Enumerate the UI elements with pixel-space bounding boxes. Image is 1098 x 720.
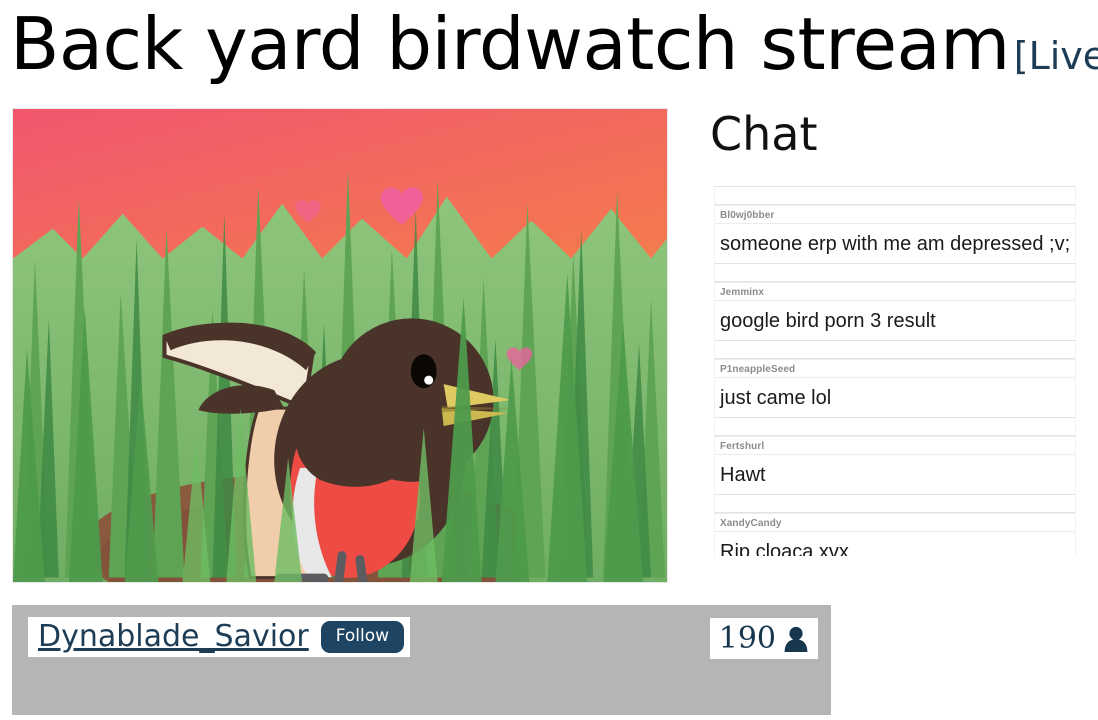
chat-row-spacer [714,264,1076,282]
chat-message-text: someone erp with me am depressed ;v; [714,224,1076,264]
chat-message-text: just came lol [714,378,1076,418]
chat-message[interactable]: P1neappleSeedjust came lol [714,359,1076,418]
video-player[interactable]: DYNABLADE SAVIOR [12,108,668,583]
chat-username[interactable]: P1neappleSeed [714,359,1076,378]
chat-message[interactable]: XandyCandyRip cloaca xvx [714,513,1076,556]
chat-row-spacer [714,495,1076,513]
chat-username[interactable]: Bl0wj0bber [714,205,1076,224]
page-title: Back yard birdwatch stream [10,8,1010,80]
chat-heading: Chat [710,108,818,160]
chat-message-list[interactable]: Bl0wj0bbersomeone erp with me am depress… [714,186,1076,556]
chat-message-text: google bird porn 3 result [714,301,1076,341]
chat-message-text: Rip cloaca xvx [714,532,1076,556]
page-header: Back yard birdwatch stream [Live] [10,8,1090,100]
follow-button[interactable]: Follow [321,621,404,653]
chat-message[interactable]: FertshurlHawt [714,436,1076,495]
stream-info-bar: Dynablade_Savior Follow 190 [12,605,831,715]
chat-username[interactable]: Jemminx [714,282,1076,301]
live-badge: [Live] [1014,37,1098,75]
person-icon [783,625,809,653]
viewer-count-box: 190 [710,618,818,659]
chat-message-text: Hawt [714,455,1076,495]
streamer-box: Dynablade_Savior Follow [28,617,410,657]
viewer-count: 190 [719,623,776,655]
chat-message[interactable]: Bl0wj0bbersomeone erp with me am depress… [714,205,1076,264]
chat-row-spacer [714,341,1076,359]
chat-username[interactable]: XandyCandy [714,513,1076,532]
chat-message[interactable]: Jemminxgoogle bird porn 3 result [714,282,1076,341]
chat-row-spacer [714,187,1076,205]
chat-row-spacer [714,418,1076,436]
streamer-name-link[interactable]: Dynablade_Savior [38,620,309,654]
chat-username[interactable]: Fertshurl [714,436,1076,455]
backyard-bird-illustration: DYNABLADE SAVIOR [13,109,667,583]
